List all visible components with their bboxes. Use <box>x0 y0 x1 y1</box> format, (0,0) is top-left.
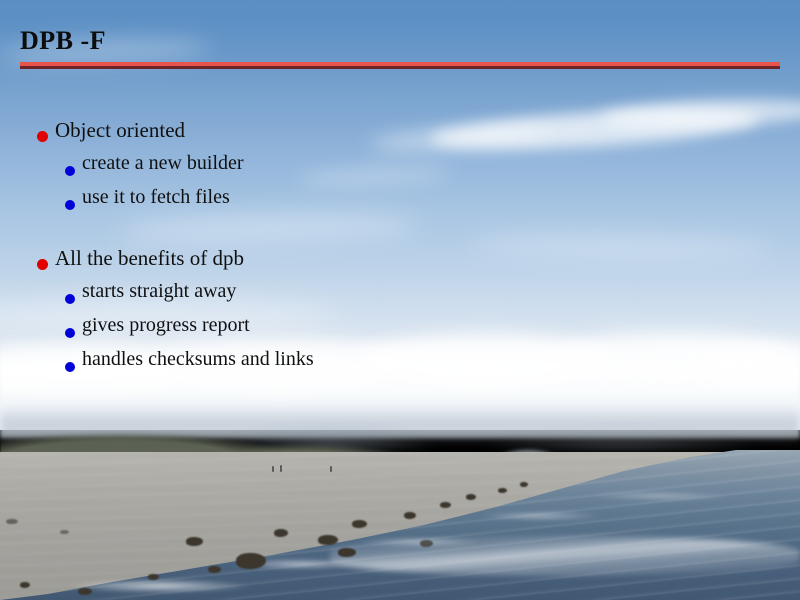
bullet-marker-blue-icon <box>65 328 75 338</box>
shoreline-foam <box>0 468 800 600</box>
headland-silhouette <box>0 412 800 472</box>
bullet-item-checksums-links: handles checksums and links <box>0 348 800 382</box>
bullet-item-all-benefits: All the benefits of dpb <box>0 246 800 280</box>
cloud-shadow-band <box>0 406 800 440</box>
bullet-marker-blue-icon <box>65 166 75 176</box>
title-divider <box>20 62 780 69</box>
sea-stack-rocks <box>0 440 800 482</box>
bullet-text: handles checksums and links <box>82 348 314 371</box>
bullet-item-fetch-files: use it to fetch files <box>0 186 800 220</box>
bullet-marker-blue-icon <box>65 362 75 372</box>
bullet-text: All the benefits of dpb <box>55 246 244 271</box>
bullet-marker-red-icon <box>37 131 48 142</box>
sand-beach <box>0 452 800 600</box>
bullet-item-starts-straight-away: starts straight away <box>0 280 800 314</box>
bullet-marker-blue-icon <box>65 200 75 210</box>
bullet-marker-red-icon <box>37 259 48 270</box>
breaking-wave-foam <box>330 536 800 576</box>
bullet-text: create a new builder <box>82 152 244 175</box>
divider-shadow <box>20 66 780 69</box>
bullet-marker-blue-icon <box>65 294 75 304</box>
ocean-water <box>0 450 800 600</box>
bullet-item-progress-report: gives progress report <box>0 314 800 348</box>
bullet-group-2: All the benefits of dpb starts straight … <box>0 246 800 382</box>
bullet-text: gives progress report <box>82 314 250 337</box>
distant-hills <box>0 404 800 450</box>
bullet-text: starts straight away <box>82 280 236 303</box>
slide-title: DPB -F <box>20 26 106 56</box>
presentation-slide: DPB -F Object oriented create a new buil… <box>0 0 800 600</box>
bullet-group-1: Object oriented create a new builder use… <box>0 118 800 220</box>
bullet-text: Object oriented <box>55 118 185 143</box>
bullet-text: use it to fetch files <box>82 186 230 209</box>
sand-texture <box>0 452 800 600</box>
wave-ripples <box>0 450 800 600</box>
slide-body: Object oriented create a new builder use… <box>0 118 800 382</box>
bullet-item-create-builder: create a new builder <box>0 152 800 186</box>
bullet-item-object-oriented: Object oriented <box>0 118 800 152</box>
